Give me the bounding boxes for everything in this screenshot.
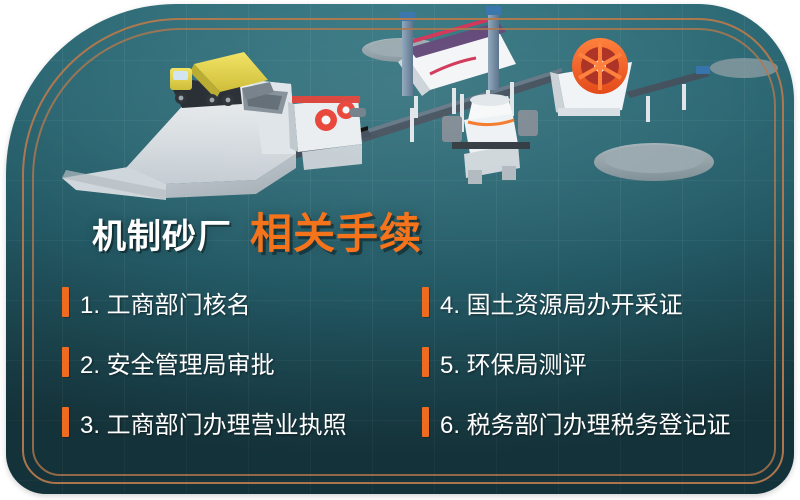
list-marker-icon (422, 287, 429, 317)
list-item-label: 5. 环保局测评 (440, 345, 587, 380)
list-item-label: 4. 国土资源局办开采证 (440, 285, 683, 320)
list-item: 6. 税务部门办理税务登记证 (422, 392, 762, 452)
jaw-crusher (288, 96, 366, 170)
list-item: 1. 工商部门核名 (62, 272, 422, 332)
procedure-list: 1. 工商部门核名 4. 国土资源局办开采证 2. 安全管理局审批 5. 环保局… (62, 272, 762, 452)
list-marker-icon (62, 407, 69, 437)
list-marker-icon (422, 407, 429, 437)
list-marker-icon (422, 347, 429, 377)
banner-card: 机制砂厂 相关手续 1. 工商部门核名 4. 国土资源局办开采证 2. 安全管理… (6, 4, 794, 494)
list-item-label: 6. 税务部门办理税务登记证 (440, 405, 731, 440)
sand-washer (550, 38, 632, 116)
sand-plant-illustration (6, 4, 794, 204)
list-item: 2. 安全管理局审批 (62, 332, 422, 392)
list-item: 4. 国土资源局办开采证 (422, 272, 762, 332)
list-item-label: 3. 工商部门办理营业执照 (80, 405, 347, 440)
list-item: 3. 工商部门办理营业执照 (62, 392, 422, 452)
belt-conveyor-right (626, 66, 710, 122)
page-title: 机制砂厂 相关手续 (92, 200, 422, 261)
list-marker-icon (62, 287, 69, 317)
title-accent: 相关手续 (250, 200, 422, 261)
banner-stage: 机制砂厂 相关手续 1. 工商部门核名 4. 国土资源局办开采证 2. 安全管理… (0, 0, 800, 500)
list-item-label: 2. 安全管理局审批 (80, 345, 275, 380)
list-marker-icon (62, 347, 69, 377)
title-primary: 机制砂厂 (92, 209, 232, 258)
list-item: 5. 环保局测评 (422, 332, 762, 392)
list-item-label: 1. 工商部门核名 (80, 285, 251, 320)
